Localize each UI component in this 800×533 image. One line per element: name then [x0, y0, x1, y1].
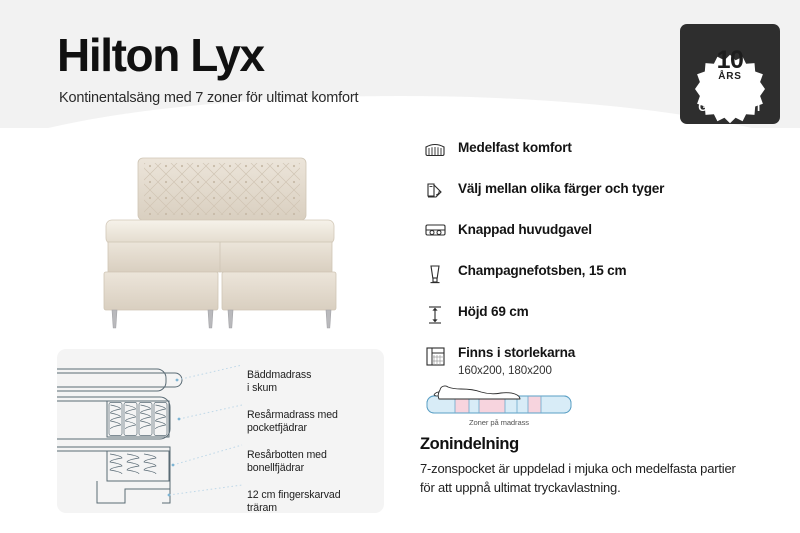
feature-item: Höjd 69 cm	[420, 304, 760, 332]
fabric-swatch-icon	[420, 181, 450, 201]
layer-diagram-panel: Bäddmadrass i skum Resårmadrass med pock…	[57, 349, 384, 513]
feature-item: Medelfast komfort	[420, 140, 760, 168]
page-subtitle: Kontinentalsäng med 7 zoner för ultimat …	[59, 90, 358, 106]
feature-label: Medelfast komfort	[458, 140, 572, 156]
bed-leg-icon	[420, 263, 450, 284]
height-arrow-icon	[420, 304, 450, 325]
badge-years-label: ÅRS	[680, 71, 780, 82]
mattress-firmness-icon	[420, 140, 450, 157]
badge-guarantee-label: GARANTI	[680, 102, 780, 114]
bed-photo	[62, 142, 392, 342]
feature-label: Höjd 69 cm	[458, 304, 529, 320]
layer-label: Resårbotten med bonellfjädrar	[247, 449, 327, 475]
feature-item: Välj mellan olika färger och tyger	[420, 181, 760, 209]
zone-diagram-caption: Zoner på madrass	[424, 418, 574, 427]
feature-label: Knappad huvudgavel	[458, 222, 592, 238]
headboard-icon	[420, 222, 450, 237]
guarantee-badge: 10 ÅRS GARANTI	[680, 24, 780, 124]
feature-label: Champagnefotsben, 15 cm	[458, 263, 626, 279]
feature-label: Finns i storlekarna	[458, 345, 575, 361]
zone-section-description: 7-zonspocket är uppdelad i mjuka och med…	[420, 459, 750, 497]
page-title: Hilton Lyx	[57, 32, 264, 78]
feature-label: Välj mellan olika färger och tyger	[458, 181, 664, 197]
layer-label: Resårmadrass med pocketfjädrar	[247, 409, 338, 435]
feature-item: Champagnefotsben, 15 cm	[420, 263, 760, 291]
layer-label: Bäddmadrass i skum	[247, 369, 311, 395]
infographic-page: Hilton Lyx Kontinentalsäng med 7 zoner f…	[0, 0, 800, 533]
zone-diagram	[424, 368, 574, 418]
zone-section-title: Zonindelning	[420, 435, 519, 454]
layer-label: 12 cm fingerskarvad träram	[247, 489, 341, 515]
bed-size-icon	[420, 345, 450, 367]
feature-list: Medelfast komfort Välj mellan olika färg…	[420, 140, 760, 390]
feature-item: Knappad huvudgavel	[420, 222, 760, 250]
